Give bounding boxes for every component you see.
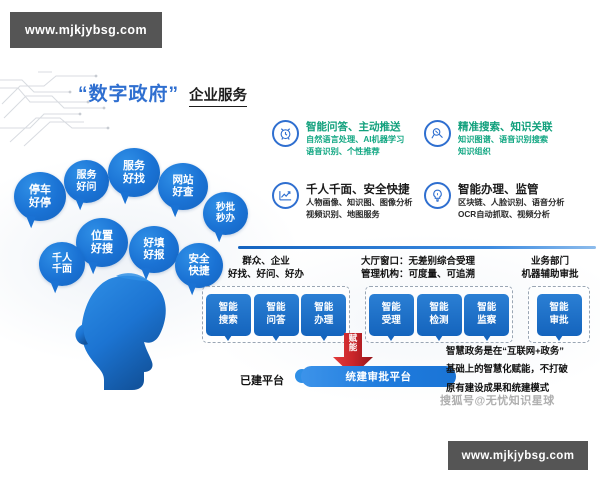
card-line: 办理 xyxy=(314,315,333,328)
bubble-service-ask: 服务 好问 xyxy=(64,160,109,203)
bubble-service-find: 服务 好找 xyxy=(108,148,160,197)
feature-sub-line: 人物画像、知识图、图像分析 xyxy=(306,197,412,209)
overlay-watermark-text: 搜狐号@无忧知识星球 xyxy=(440,392,555,408)
feature-precise-search: 精准搜索、知识关联 知识图谱、语音识别搜索 知识组织 xyxy=(424,120,553,158)
card-smart-supervise[interactable]: 智能 监察 xyxy=(464,294,509,336)
feature-sub-line: 自然语言处理、AI机器学习 xyxy=(306,134,404,146)
bubble-line: 秒办 xyxy=(216,214,235,225)
card-smart-qa[interactable]: 智能 问答 xyxy=(254,294,299,336)
card-line: 智能 xyxy=(549,302,568,315)
process-panel: 群众、企业 好找、好问、好办 大厅窗口：无差别综合受理 管理机构：可度量、可追溯… xyxy=(190,252,598,347)
built-platform-label: 已建平台 xyxy=(240,372,284,388)
feature-list: 智能问答、主动推送 自然语言处理、AI机器学习 语音识别、个性推荐 精准搜索、知… xyxy=(272,120,598,242)
feature-heading: 千人千面、安全快捷 xyxy=(306,183,412,197)
card-line: 智能 xyxy=(219,302,238,315)
feature-smart-handling: 智能办理、监管 区块链、人脸识别、语音分析 OCR自动抓取、视频分析 xyxy=(424,182,564,221)
bubble-line: 千面 xyxy=(52,264,72,275)
caption-line: 管理机构：可度量、可追溯 xyxy=(338,269,498,282)
bubble-website-query: 网站 好查 xyxy=(158,163,208,210)
note-line: 基础上的智慧化赋能，不打破 xyxy=(446,360,598,378)
feature-sub-line: 视频识别、地图服务 xyxy=(306,209,412,221)
feature-sub-line: 知识图谱、语音识别搜索 xyxy=(458,134,553,146)
bubble-line: 服务 xyxy=(77,170,97,181)
feature-sub-line: 语音识别、个性推荐 xyxy=(306,146,404,158)
card-smart-accept[interactable]: 智能 受理 xyxy=(369,294,414,336)
card-line: 智能 xyxy=(477,302,496,315)
feature-smart-qa: 智能问答、主动推送 自然语言处理、AI机器学习 语音识别、个性推荐 xyxy=(272,120,404,158)
card-line: 监察 xyxy=(477,315,496,328)
page-title: “数字政府” 企业服务 xyxy=(78,79,247,107)
arrow-label: 赋 能 xyxy=(332,334,374,352)
caption-line: 机器辅助审批 xyxy=(502,269,598,282)
watermark-bottom-url: www.mjkjybsg.com xyxy=(448,441,588,470)
bubble-line: 好搜 xyxy=(91,243,113,255)
bubble-line: 好停 xyxy=(29,197,51,209)
group-hall: 智能 受理 智能 检测 智能 监察 xyxy=(365,286,513,343)
bubble-line: 服务 xyxy=(123,160,145,172)
feature-personalized-safe: 千人千面、安全快捷 人物画像、知识图、图像分析 视频识别、地图服务 xyxy=(272,182,412,221)
page-title-suffix: 企业服务 xyxy=(189,84,247,107)
alarm-clock-icon xyxy=(272,120,299,147)
card-line: 智能 xyxy=(429,302,448,315)
unified-platform-pill[interactable]: 统建审批平台 xyxy=(301,366,456,387)
bubble-easy-filing: 好填 好报 xyxy=(129,226,179,273)
bubble-line: 好填 xyxy=(144,238,165,250)
card-smart-detect[interactable]: 智能 检测 xyxy=(417,294,462,336)
bubble-line: 停车 xyxy=(29,184,51,196)
note-line: 智慧政务是在“互联网+政务” xyxy=(446,342,598,360)
caption-line: 群众、企业 xyxy=(196,256,336,269)
group-citizen: 智能 搜索 智能 问答 智能 办理 xyxy=(202,286,350,343)
watermark-top-url: www.mjkjybsg.com xyxy=(10,12,162,48)
bubble-instant-approval: 秒批 秒办 xyxy=(203,192,248,235)
card-line: 受理 xyxy=(382,315,401,328)
magnifier-search-icon xyxy=(424,120,451,147)
bubble-line: 位置 xyxy=(91,230,113,242)
page-title-quoted: “数字政府” xyxy=(78,79,179,106)
card-line: 检测 xyxy=(429,315,448,328)
slide-canvas: www.mjkjybsg.com www.mjkjybsg.com “数字政府”… xyxy=(0,0,600,480)
group-department: 智能 审批 xyxy=(528,286,590,343)
caption-hall-window: 大厅窗口：无差别综合受理 管理机构：可度量、可追溯 xyxy=(338,256,498,282)
caption-line: 大厅窗口：无差别综合受理 xyxy=(338,256,498,269)
head-silhouette xyxy=(70,272,190,400)
card-smart-handling[interactable]: 智能 办理 xyxy=(301,294,346,336)
lightbulb-icon xyxy=(424,182,451,209)
feature-heading: 智能问答、主动推送 xyxy=(306,121,404,134)
bubble-line: 秒批 xyxy=(216,203,235,214)
feature-sub-line: 区块链、人脸识别、语音分析 xyxy=(458,197,564,209)
trending-chart-icon xyxy=(272,182,299,209)
bubble-line: 网站 xyxy=(173,175,194,187)
feature-sub-line: OCR自动抓取、视频分析 xyxy=(458,209,564,221)
bubble-line: 好问 xyxy=(77,182,97,193)
bubble-line: 好报 xyxy=(144,250,165,262)
summary-note: 智慧政务是在“互联网+政务” 基础上的智慧化赋能，不打破 原有建设成果和统建模式 xyxy=(446,342,598,397)
card-line: 审批 xyxy=(549,315,568,328)
feature-heading: 精准搜索、知识关联 xyxy=(458,121,553,134)
card-smart-search[interactable]: 智能 搜索 xyxy=(206,294,251,336)
bubble-line: 好找 xyxy=(123,173,145,185)
section-divider xyxy=(238,246,596,249)
card-line: 搜索 xyxy=(219,315,238,328)
caption-public-enterprise: 群众、企业 好找、好问、好办 xyxy=(196,256,336,282)
feature-heading: 智能办理、监管 xyxy=(458,183,564,197)
bubble-line: 好查 xyxy=(173,187,194,199)
card-line: 问答 xyxy=(266,315,285,328)
bubble-line: 千人 xyxy=(52,253,72,264)
caption-line: 好找、好问、好办 xyxy=(196,269,336,282)
arrow-label-line: 能 xyxy=(332,343,374,352)
caption-business-dept: 业务部门 机器辅助审批 xyxy=(502,256,598,282)
caption-line: 业务部门 xyxy=(502,256,598,269)
feature-sub-line: 知识组织 xyxy=(458,146,553,158)
card-line: 智能 xyxy=(266,302,285,315)
card-smart-approval[interactable]: 智能 审批 xyxy=(537,294,582,336)
card-line: 智能 xyxy=(382,302,401,315)
card-line: 智能 xyxy=(314,302,333,315)
bubble-parking: 停车 好停 xyxy=(14,172,66,221)
